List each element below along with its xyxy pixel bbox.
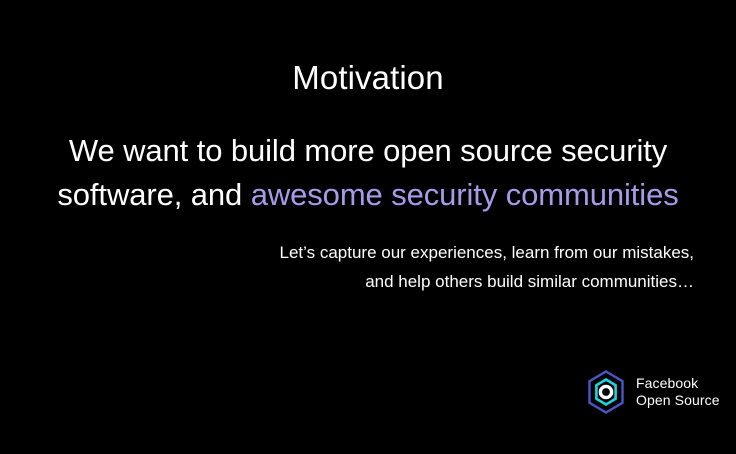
subtext-line-2: and help others build similar communitie…	[36, 267, 694, 296]
hexagon-logo-icon	[583, 368, 629, 416]
subtext: Let’s capture our experiences, learn fro…	[36, 238, 694, 296]
headline-line-1: We want to build more open source securi…	[0, 129, 736, 173]
page-title: Motivation	[0, 58, 736, 98]
logo-wordmark: Facebook Open Source	[636, 375, 720, 409]
facebook-open-source-logo: Facebook Open Source	[583, 368, 720, 416]
headline: We want to build more open source securi…	[0, 129, 736, 217]
headline-accent-text: awesome security communities	[251, 177, 679, 212]
logo-text-line-1: Facebook	[636, 375, 720, 392]
logo-text-line-2: Open Source	[636, 392, 720, 409]
headline-line-2-prefix: software, and	[57, 177, 250, 212]
slide: Motivation We want to build more open so…	[0, 0, 736, 454]
headline-line-2: software, and awesome security communiti…	[0, 173, 736, 217]
subtext-line-1: Let’s capture our experiences, learn fro…	[36, 238, 694, 267]
